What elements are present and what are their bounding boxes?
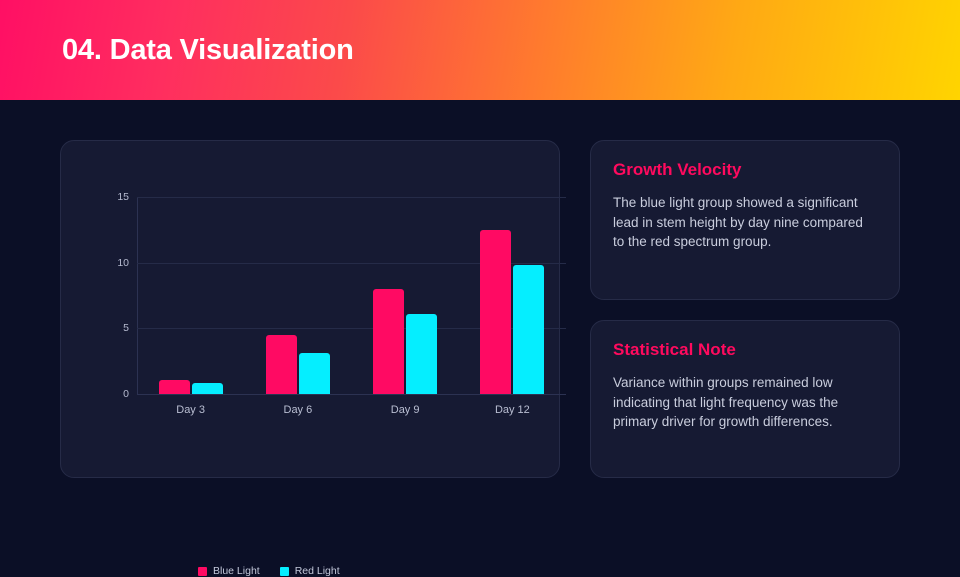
slide-canvas: 04. Data Visualization 051015Day 3Day 6D… <box>0 0 960 540</box>
chart-bar <box>373 289 404 394</box>
card-body-text: The blue light group showed a significan… <box>613 193 877 252</box>
chart-x-tick-label: Day 12 <box>462 404 562 416</box>
card-body-text: Variance within groups remained low indi… <box>613 373 877 432</box>
insight-card-statistical-note: Statistical Note Variance within groups … <box>590 320 900 478</box>
legend-label: Blue Light <box>213 565 260 577</box>
chart-x-tick-label: Day 6 <box>248 404 348 416</box>
legend-swatch-icon <box>198 567 207 576</box>
chart-bar <box>513 265 544 394</box>
chart-y-tick-label: 5 <box>89 323 129 333</box>
slide-header-band: 04. Data Visualization <box>0 0 960 100</box>
chart-bar <box>159 380 190 394</box>
chart-bar <box>406 314 437 394</box>
chart-legend: Blue LightRed Light <box>198 565 340 577</box>
legend-label: Red Light <box>295 565 340 577</box>
chart-y-tick-label: 10 <box>89 258 129 268</box>
insight-card-growth-velocity: Growth Velocity The blue light group sho… <box>590 140 900 300</box>
chart-bar <box>266 335 297 394</box>
chart-x-tick-label: Day 3 <box>141 404 241 416</box>
bar-chart: 051015Day 3Day 6Day 9Day 12 Blue LightRe… <box>61 141 561 479</box>
chart-gridline <box>137 197 566 198</box>
page-title: 04. Data Visualization <box>62 34 354 67</box>
chart-x-axis-line <box>137 394 566 395</box>
chart-legend-item[interactable]: Red Light <box>280 565 340 577</box>
chart-y-axis-line <box>137 197 138 395</box>
chart-bar <box>192 383 223 394</box>
chart-x-tick-label: Day 9 <box>355 404 455 416</box>
chart-y-tick-label: 15 <box>89 192 129 202</box>
card-title: Growth Velocity <box>613 160 741 180</box>
chart-y-tick-label: 0 <box>89 389 129 399</box>
legend-swatch-icon <box>280 567 289 576</box>
chart-card: 051015Day 3Day 6Day 9Day 12 Blue LightRe… <box>60 140 560 478</box>
chart-plot-area: 051015Day 3Day 6Day 9Day 12 <box>137 197 582 394</box>
chart-bar <box>480 230 511 394</box>
chart-bar <box>299 353 330 394</box>
chart-legend-item[interactable]: Blue Light <box>198 565 260 577</box>
card-title: Statistical Note <box>613 340 736 360</box>
